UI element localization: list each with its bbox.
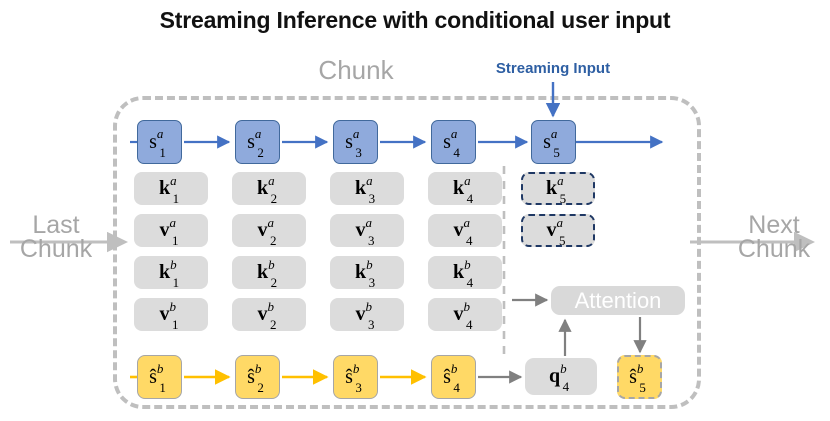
key-a-cell[interactable]: ka3 — [330, 172, 404, 205]
state-b-cell[interactable]: ŝb3 — [333, 355, 378, 399]
value-b-cell[interactable]: vb4 — [428, 298, 502, 331]
state-b-cell[interactable]: ŝb1 — [137, 355, 182, 399]
query-label: qb4 — [549, 364, 573, 390]
last-chunk-line1: Last — [8, 213, 104, 237]
value-b-label: vb3 — [356, 302, 379, 328]
state-a-label: sa4 — [443, 129, 464, 155]
state-a-label: sa2 — [247, 129, 268, 155]
key-b-cell[interactable]: kb2 — [232, 256, 306, 289]
key-a-label: ka5 — [546, 176, 570, 202]
key-b-label: kb3 — [355, 260, 379, 286]
state-a-cell[interactable]: sa3 — [333, 120, 378, 164]
attention-label: Attention — [575, 288, 662, 314]
key-a-cell[interactable]: ka4 — [428, 172, 502, 205]
value-b-label: vb1 — [160, 302, 183, 328]
state-b-label: ŝb4 — [443, 364, 464, 390]
key-a-cell[interactable]: ka2 — [232, 172, 306, 205]
value-a-cell[interactable]: va2 — [232, 214, 306, 247]
state-a-cell[interactable]: sa1 — [137, 120, 182, 164]
value-a-cell[interactable]: va1 — [134, 214, 208, 247]
value-a-cell-pending[interactable]: va5 — [521, 214, 595, 247]
value-b-label: vb2 — [258, 302, 281, 328]
state-b-label: ŝb1 — [149, 364, 170, 390]
connector-layer — [0, 0, 830, 421]
key-a-label: ka4 — [453, 176, 477, 202]
state-b-label: ŝb2 — [247, 364, 268, 390]
attention-block[interactable]: Attention — [551, 286, 685, 315]
state-b-cell-predicted[interactable]: ŝb5 — [617, 355, 662, 399]
state-a-label: sa3 — [345, 129, 366, 155]
state-b-cell[interactable]: ŝb4 — [431, 355, 476, 399]
key-b-label: kb1 — [159, 260, 183, 286]
value-b-cell[interactable]: vb3 — [330, 298, 404, 331]
key-b-cell[interactable]: kb1 — [134, 256, 208, 289]
last-chunk-line2: Chunk — [8, 237, 104, 261]
value-a-label: va5 — [547, 218, 570, 244]
diagram-canvas: Streaming Inference with conditional use… — [0, 0, 830, 421]
key-a-cell-pending[interactable]: ka5 — [521, 172, 595, 205]
key-b-cell[interactable]: kb3 — [330, 256, 404, 289]
value-a-label: va4 — [454, 218, 477, 244]
state-a-cell[interactable]: sa5 — [531, 120, 576, 164]
key-b-label: kb2 — [257, 260, 281, 286]
state-b-label: ŝb5 — [629, 364, 650, 390]
value-a-label: va1 — [160, 218, 183, 244]
value-a-label: va3 — [356, 218, 379, 244]
key-a-cell[interactable]: ka1 — [134, 172, 208, 205]
next-chunk-line1: Next — [724, 213, 824, 237]
value-a-cell[interactable]: va4 — [428, 214, 502, 247]
state-b-label: ŝb3 — [345, 364, 366, 390]
key-b-cell[interactable]: kb4 — [428, 256, 502, 289]
next-chunk-line2: Chunk — [724, 237, 824, 261]
last-chunk-label: Last Chunk — [8, 213, 104, 261]
key-a-label: ka1 — [159, 176, 183, 202]
next-chunk-label: Next Chunk — [724, 213, 824, 261]
value-a-cell[interactable]: va3 — [330, 214, 404, 247]
value-a-label: va2 — [258, 218, 281, 244]
key-a-label: ka2 — [257, 176, 281, 202]
value-b-label: vb4 — [454, 302, 477, 328]
state-b-cell[interactable]: ŝb2 — [235, 355, 280, 399]
state-a-cell[interactable]: sa2 — [235, 120, 280, 164]
query-cell[interactable]: qb4 — [525, 358, 597, 395]
key-b-label: kb4 — [453, 260, 477, 286]
value-b-cell[interactable]: vb1 — [134, 298, 208, 331]
state-a-cell[interactable]: sa4 — [431, 120, 476, 164]
state-a-label: sa1 — [149, 129, 170, 155]
value-b-cell[interactable]: vb2 — [232, 298, 306, 331]
key-a-label: ka3 — [355, 176, 379, 202]
state-a-label: sa5 — [543, 129, 564, 155]
